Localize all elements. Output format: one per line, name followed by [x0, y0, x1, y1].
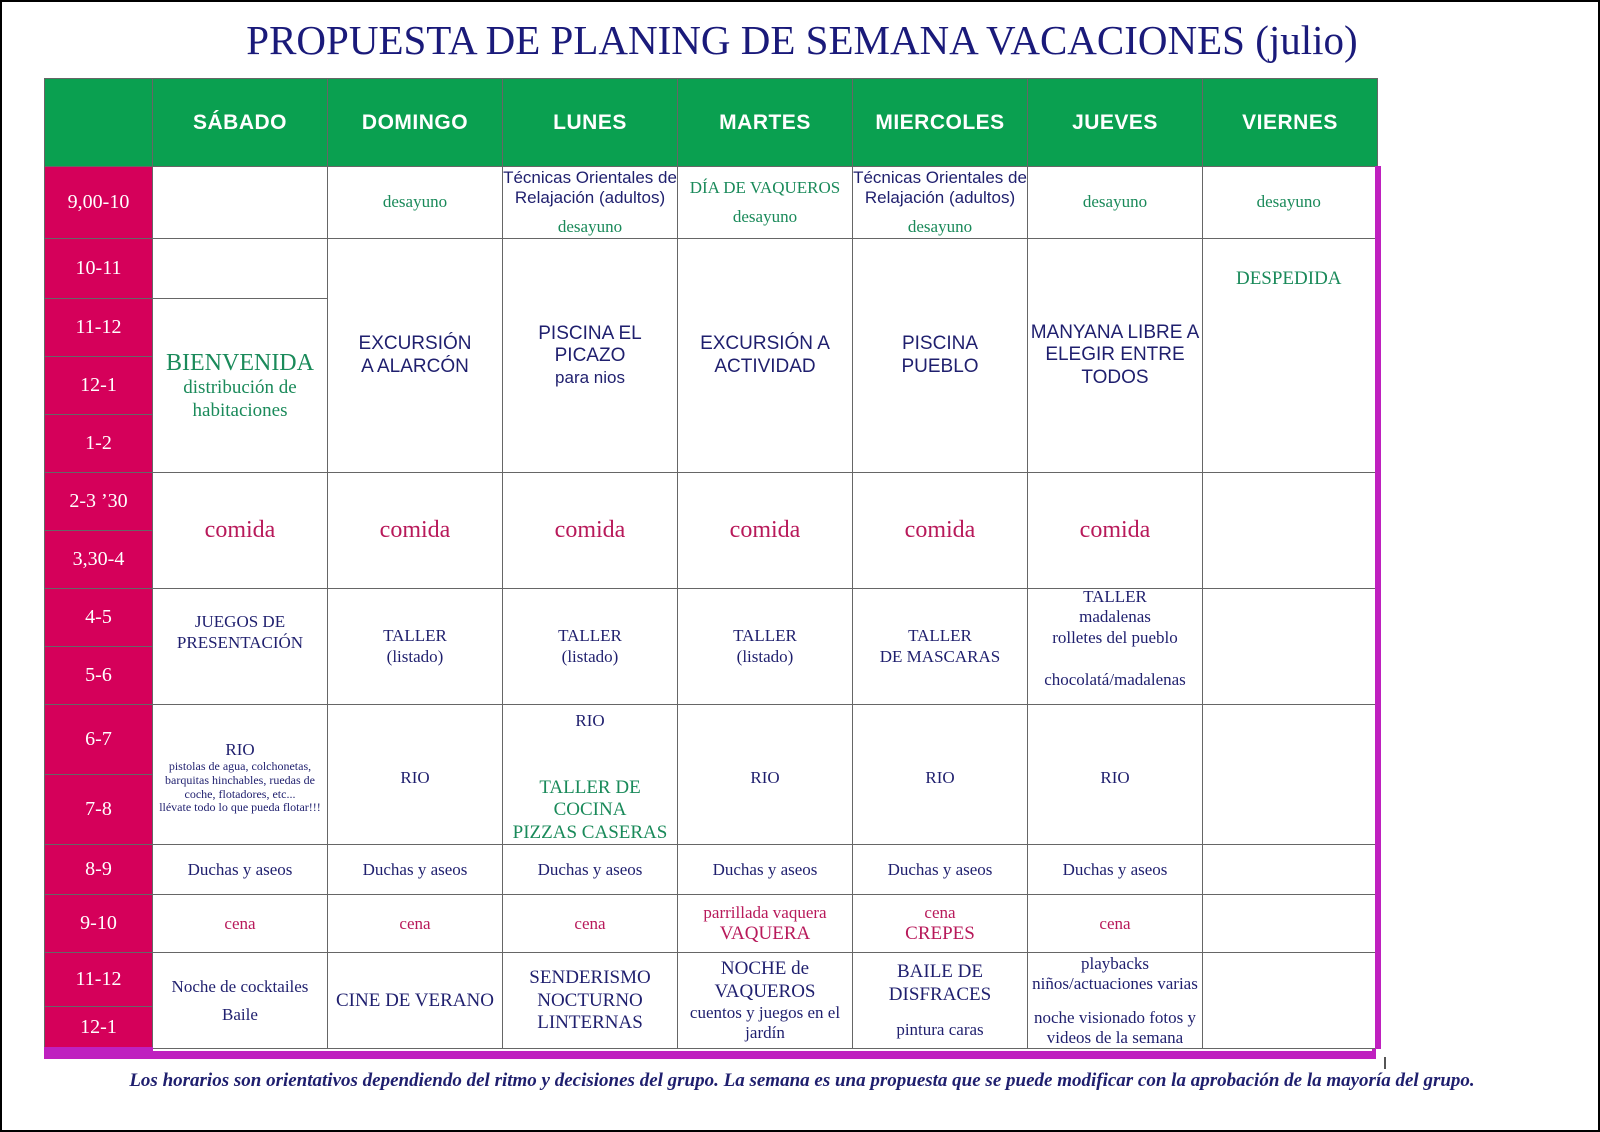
weekly-schedule-table: SÁBADO DOMINGO LUNES MARTES MIERCOLES JU…: [44, 78, 1381, 1051]
cell-jueves-duchas[interactable]: Duchas y aseos: [1028, 845, 1203, 895]
cell-miercoles-duchas[interactable]: Duchas y aseos: [853, 845, 1028, 895]
header-day-lunes: LUNES: [503, 79, 678, 167]
cell-viernes-morning[interactable]: DESPEDIDA: [1203, 239, 1378, 473]
cell-miercoles-noche[interactable]: BAILE DE DISFRACES pintura caras: [853, 953, 1028, 1049]
time-label-6-7: 6-7: [45, 705, 153, 775]
text-rio: RIO: [853, 768, 1027, 788]
text-rio: RIO: [153, 740, 327, 760]
cell-domingo-noche[interactable]: CINE DE VERANO: [328, 953, 503, 1049]
text-excursion-actividad-1: EXCURSIÓN A: [678, 333, 852, 355]
text-cena: cena: [328, 914, 502, 934]
text-chocolata: chocolatá/madalenas: [1028, 670, 1202, 690]
page-tick-mark: [1384, 1057, 1386, 1069]
table-row-6-7: 6-7 RIO pistolas de agua, colchonetas, b…: [45, 705, 1378, 775]
cell-domingo-taller[interactable]: TALLER (listado): [328, 589, 503, 705]
text-piscina-picazo: PISCINA EL PICAZO: [503, 323, 677, 368]
text-desayuno: desayuno: [503, 217, 677, 237]
cell-lunes-comida[interactable]: comida: [503, 473, 678, 589]
table-row-2-330: 2-3 ’30 comida comida comida comida comi…: [45, 473, 1378, 531]
cell-martes-morning[interactable]: EXCURSIÓN A ACTIVIDAD: [678, 239, 853, 473]
text-tecnicas-2: Relajación (adultos): [503, 188, 677, 208]
text-rio: RIO: [328, 768, 502, 788]
text-comida: comida: [153, 516, 327, 544]
time-label-330-4: 3,30-4: [45, 531, 153, 589]
text-listado: (listado): [503, 647, 677, 667]
time-label-1-2: 1-2: [45, 415, 153, 473]
text-despedida: DESPEDIDA: [1203, 268, 1375, 290]
page-title: PROPUESTA DE PLANING DE SEMANA VACACIONE…: [2, 16, 1600, 64]
text-desayuno: desayuno: [678, 207, 852, 227]
cell-viernes-rio[interactable]: [1203, 705, 1378, 845]
text-ninos-actuaciones: niños/actuaciones varias: [1028, 974, 1202, 994]
cell-sabado-9-10[interactable]: [153, 167, 328, 239]
text-parrillada-vaquera: parrillada vaquera: [678, 903, 852, 923]
cell-jueves-taller[interactable]: TALLER madalenas rolletes del pueblo cho…: [1028, 589, 1203, 705]
cell-viernes-cena[interactable]: [1203, 895, 1378, 953]
table-row-9-10: 9,00-10 desayuno Técnicas Orientales de …: [45, 167, 1378, 239]
time-label-5-6: 5-6: [45, 647, 153, 705]
cell-sabado-duchas[interactable]: Duchas y aseos: [153, 845, 328, 895]
cell-lunes-rio[interactable]: RIO TALLER DE COCINA PIZZAS CASERAS: [503, 705, 678, 845]
cell-sabado-cena[interactable]: cena: [153, 895, 328, 953]
text-rio-note-2: barquitas hinchables, ruedas de: [153, 774, 327, 788]
cell-domingo-9-10[interactable]: desayuno: [328, 167, 503, 239]
header-day-sabado: SÁBADO: [153, 79, 328, 167]
header-day-viernes: VIERNES: [1203, 79, 1378, 167]
cell-sabado-comida[interactable]: comida: [153, 473, 328, 589]
cell-miercoles-rio[interactable]: RIO: [853, 705, 1028, 845]
text-tecnicas-1: Técnicas Orientales de: [503, 168, 677, 188]
cell-sabado-noche[interactable]: Noche de cocktailes Baile: [153, 953, 328, 1049]
text-cena: cena: [1028, 914, 1202, 934]
text-rio-note-4: llévate todo lo que pueda flotar!!!: [153, 801, 327, 815]
cell-miercoles-comida[interactable]: comida: [853, 473, 1028, 589]
text-excursion-actividad-2: ACTIVIDAD: [678, 356, 852, 378]
cell-martes-9-10[interactable]: DÍA DE VAQUEROS desayuno: [678, 167, 853, 239]
text-cine-de-verano: CINE DE VERANO: [328, 990, 502, 1012]
text-comida: comida: [1028, 516, 1202, 544]
text-manyana-libre-2: ELEGIR ENTRE TODOS: [1028, 344, 1202, 389]
cell-viernes-taller[interactable]: [1203, 589, 1378, 705]
cell-jueves-noche[interactable]: playbacks niños/actuaciones varias noche…: [1028, 953, 1203, 1049]
time-label-12-1-night: 12-1: [45, 1007, 153, 1049]
text-juegos-1: JUEGOS DE: [153, 612, 327, 632]
text-listado: (listado): [328, 647, 502, 667]
time-label-8-9: 8-9: [45, 845, 153, 895]
text-crepes: CREPES: [853, 923, 1027, 945]
text-comida: comida: [853, 516, 1027, 544]
time-label-11-12-night: 11-12: [45, 953, 153, 1007]
text-excursion-2: A ALARCÓN: [328, 356, 502, 378]
text-piscina-2: PUEBLO: [853, 356, 1027, 378]
text-rio: RIO: [678, 768, 852, 788]
text-desayuno: desayuno: [1028, 192, 1202, 212]
text-rio: RIO: [1028, 768, 1202, 788]
cell-jueves-morning[interactable]: MANYANA LIBRE A ELEGIR ENTRE TODOS: [1028, 239, 1203, 473]
cell-jueves-rio[interactable]: RIO: [1028, 705, 1203, 845]
cell-martes-cena[interactable]: parrillada vaquera VAQUERA: [678, 895, 853, 953]
text-baile-disfraces: BAILE DE DISFRACES: [853, 961, 1027, 1006]
text-baile: Baile: [153, 1005, 327, 1025]
cell-lunes-cena[interactable]: cena: [503, 895, 678, 953]
cell-viernes-9-10[interactable]: desayuno: [1203, 167, 1378, 239]
cell-martes-comida[interactable]: comida: [678, 473, 853, 589]
text-duchas: Duchas y aseos: [503, 860, 677, 880]
text-nocturno: NOCTURNO: [503, 990, 677, 1012]
time-label-10-11: 10-11: [45, 239, 153, 299]
text-manyana-libre-1: MANYANA LIBRE A: [1028, 322, 1202, 344]
cell-sabado-juegos[interactable]: JUEGOS DE PRESENTACIÓN: [153, 589, 328, 705]
text-rolletes: rolletes del pueblo: [1028, 628, 1202, 648]
text-listado: (listado): [678, 647, 852, 667]
text-habitaciones: habitaciones: [153, 400, 327, 422]
text-comida: comida: [678, 516, 852, 544]
cell-domingo-rio[interactable]: RIO: [328, 705, 503, 845]
header-day-domingo: DOMINGO: [328, 79, 503, 167]
text-madalenas: madalenas: [1028, 607, 1202, 627]
text-playbacks: playbacks: [1028, 954, 1202, 974]
text-cena: cena: [853, 903, 1027, 923]
text-noche-visionado: noche visionado fotos y: [1028, 1008, 1202, 1028]
text-duchas: Duchas y aseos: [328, 860, 502, 880]
footer-note: Los horarios son orientativos dependiend…: [2, 1070, 1600, 1092]
time-label-2-330: 2-3 ’30: [45, 473, 153, 531]
table-header: SÁBADO DOMINGO LUNES MARTES MIERCOLES JU…: [45, 79, 1378, 167]
time-label-11-12: 11-12: [45, 299, 153, 357]
cell-viernes-comida[interactable]: [1203, 473, 1378, 589]
time-label-7-8: 7-8: [45, 775, 153, 845]
text-pintura-caras: pintura caras: [853, 1020, 1027, 1040]
header-corner: [45, 79, 153, 167]
cell-sabado-10-11[interactable]: [153, 239, 328, 299]
text-taller: TALLER: [503, 626, 677, 646]
cell-miercoles-9-10[interactable]: Técnicas Orientales de Relajación (adult…: [853, 167, 1028, 239]
text-pizzas-caseras: PIZZAS CASERAS: [503, 822, 677, 844]
text-taller: TALLER: [853, 626, 1027, 646]
cell-domingo-morning[interactable]: EXCURSIÓN A ALARCÓN: [328, 239, 503, 473]
text-comida: comida: [503, 516, 677, 544]
table-body: 9,00-10 desayuno Técnicas Orientales de …: [45, 167, 1378, 1049]
cell-domingo-duchas[interactable]: Duchas y aseos: [328, 845, 503, 895]
text-noche-de-vaqueros: NOCHE de VAQUEROS: [678, 958, 852, 1003]
text-dia-de-vaqueros: DÍA DE VAQUEROS: [678, 178, 852, 198]
text-desayuno: desayuno: [1203, 192, 1375, 212]
text-vaquera: VAQUERA: [678, 923, 852, 945]
cell-miercoles-taller[interactable]: TALLER DE MASCARAS: [853, 589, 1028, 705]
text-senderismo: SENDERISMO: [503, 967, 677, 989]
cell-lunes-morning[interactable]: PISCINA EL PICAZO para nios: [503, 239, 678, 473]
cell-viernes-duchas[interactable]: [1203, 845, 1378, 895]
text-juegos-2: PRESENTACIÓN: [153, 633, 327, 653]
text-noche-cocktailes: Noche de cocktailes: [153, 977, 327, 997]
cell-jueves-9-10[interactable]: desayuno: [1028, 167, 1203, 239]
cell-miercoles-morning[interactable]: PISCINA PUEBLO: [853, 239, 1028, 473]
cell-viernes-noche[interactable]: [1203, 953, 1378, 1049]
cell-martes-taller[interactable]: TALLER (listado): [678, 589, 853, 705]
text-duchas: Duchas y aseos: [853, 860, 1027, 880]
header-day-miercoles: MIERCOLES: [853, 79, 1028, 167]
text-jardin: jardín: [678, 1023, 852, 1043]
text-bienvenida: BIENVENIDA: [153, 349, 327, 377]
text-rio-note-3: coche, flotadores, etc...: [153, 788, 327, 802]
cell-miercoles-cena[interactable]: cena CREPES: [853, 895, 1028, 953]
table-row-4-5: 4-5 JUEGOS DE PRESENTACIÓN TALLER (lista…: [45, 589, 1378, 647]
cell-domingo-cena[interactable]: cena: [328, 895, 503, 953]
text-taller: TALLER: [1028, 589, 1202, 608]
text-excursion-1: EXCURSIÓN: [328, 333, 502, 355]
time-label-9-10-night: 9-10: [45, 895, 153, 953]
cell-lunes-noche[interactable]: SENDERISMO NOCTURNO LINTERNAS: [503, 953, 678, 1049]
cell-jueves-comida[interactable]: comida: [1028, 473, 1203, 589]
cell-lunes-taller[interactable]: TALLER (listado): [503, 589, 678, 705]
time-label-9-10: 9,00-10: [45, 167, 153, 239]
cell-martes-rio[interactable]: RIO: [678, 705, 853, 845]
text-desayuno: desayuno: [328, 192, 502, 212]
text-videos-semana: videos de la semana: [1028, 1028, 1202, 1048]
time-label-12-1: 12-1: [45, 357, 153, 415]
text-taller: TALLER: [678, 626, 852, 646]
cell-domingo-comida[interactable]: comida: [328, 473, 503, 589]
text-para-nios: para nios: [503, 368, 677, 388]
text-distribucion: distribución de: [153, 377, 327, 399]
text-tecnicas-1: Técnicas Orientales de: [853, 168, 1027, 188]
text-rio-note-1: pistolas de agua, colchonetas,: [153, 760, 327, 774]
text-tecnicas-2: Relajación (adultos): [853, 188, 1027, 208]
text-de-mascaras: DE MASCARAS: [853, 647, 1027, 667]
text-comida: comida: [328, 516, 502, 544]
text-duchas: Duchas y aseos: [153, 860, 327, 880]
table-row-9-10-cena: 9-10 cena cena cena parrillada vaquera V…: [45, 895, 1378, 953]
header-row: SÁBADO DOMINGO LUNES MARTES MIERCOLES JU…: [45, 79, 1378, 167]
time-label-4-5: 4-5: [45, 589, 153, 647]
text-rio: RIO: [503, 711, 677, 731]
cell-sabado-rio[interactable]: RIO pistolas de agua, colchonetas, barqu…: [153, 705, 328, 845]
cell-martes-duchas[interactable]: Duchas y aseos: [678, 845, 853, 895]
text-linternas: LINTERNAS: [503, 1012, 677, 1034]
text-taller: TALLER: [328, 626, 502, 646]
cell-sabado-bienvenida[interactable]: BIENVENIDA distribución de habitaciones: [153, 299, 328, 473]
text-cena: cena: [153, 914, 327, 934]
schedule-page: PROPUESTA DE PLANING DE SEMANA VACACIONE…: [0, 0, 1600, 1132]
table-row-10-11: 10-11 EXCURSIÓN A ALARCÓN PISCINA EL PIC…: [45, 239, 1378, 299]
text-desayuno: desayuno: [853, 217, 1027, 237]
cell-lunes-duchas[interactable]: Duchas y aseos: [503, 845, 678, 895]
header-day-martes: MARTES: [678, 79, 853, 167]
cell-martes-noche[interactable]: NOCHE de VAQUEROS cuentos y juegos en el…: [678, 953, 853, 1049]
text-duchas: Duchas y aseos: [1028, 860, 1202, 880]
header-day-jueves: JUEVES: [1028, 79, 1203, 167]
cell-lunes-9-10[interactable]: Técnicas Orientales de Relajación (adult…: [503, 167, 678, 239]
table-row-8-9: 8-9 Duchas y aseos Duchas y aseos Duchas…: [45, 845, 1378, 895]
text-cena: cena: [503, 914, 677, 934]
cell-jueves-cena[interactable]: cena: [1028, 895, 1203, 953]
text-taller-cocina: TALLER DE COCINA: [503, 777, 677, 822]
text-piscina-1: PISCINA: [853, 333, 1027, 355]
text-cuentos-juegos: cuentos y juegos en el: [678, 1003, 852, 1023]
text-duchas: Duchas y aseos: [678, 860, 852, 880]
table-row-11-12-night: 11-12 Noche de cocktailes Baile CINE DE …: [45, 953, 1378, 1007]
